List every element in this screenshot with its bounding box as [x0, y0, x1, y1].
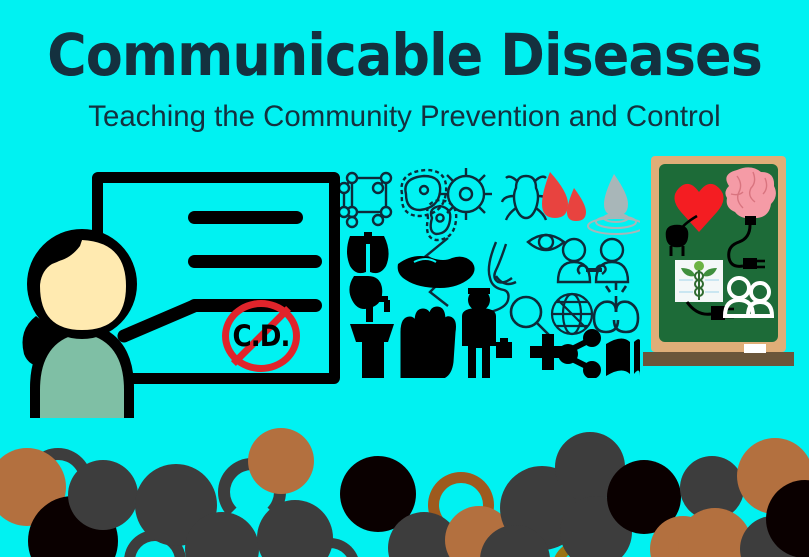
cd-abbreviation-label: C.D. [226, 300, 296, 372]
magnifying-glass-icon [511, 297, 550, 336]
green-chalkboard [643, 156, 794, 378]
audience-head [68, 460, 138, 530]
page-subtitle: Teaching the Community Prevention and Co… [8, 100, 801, 134]
female-teacher-figure [16, 218, 216, 418]
share-nodes-icon [558, 329, 601, 378]
two-people-connected-icon [558, 239, 628, 282]
heart-icon [674, 184, 723, 232]
chalkboard-surface [659, 164, 778, 342]
bacteria-icon [402, 170, 457, 240]
page-title: Communicable Diseases [28, 24, 780, 86]
lungs-outline-icon [594, 283, 638, 332]
audience-heads [0, 420, 809, 557]
nose-icon [494, 244, 516, 284]
globe-network-icon [552, 294, 592, 334]
molecule-network-icon [340, 173, 391, 227]
no-communicable-disease-icon: C.D. [222, 300, 300, 372]
poster-canvas: Communicable Diseases Teaching the Commu… [0, 0, 809, 557]
teacher-pointer-arm [124, 306, 194, 336]
virus-germ-icon [440, 168, 492, 220]
blood-drops-icon [542, 172, 586, 221]
caduceus-card-icon [675, 260, 723, 302]
chalk-piece [744, 344, 766, 353]
water-droplet-icon [588, 174, 640, 234]
chalkboard-ledge [643, 352, 794, 366]
open-book-icon [606, 338, 640, 376]
sink-faucet-icon [350, 296, 394, 378]
eye-icon [528, 235, 564, 250]
disease-icon-grid [340, 166, 640, 378]
doctor-with-bag-icon [462, 288, 512, 378]
brain-cord-plug-icon [729, 225, 765, 269]
medical-glove-icon [402, 308, 455, 378]
handshake-icon [398, 256, 475, 288]
audience-head [248, 428, 314, 494]
brain-icon [725, 167, 776, 225]
